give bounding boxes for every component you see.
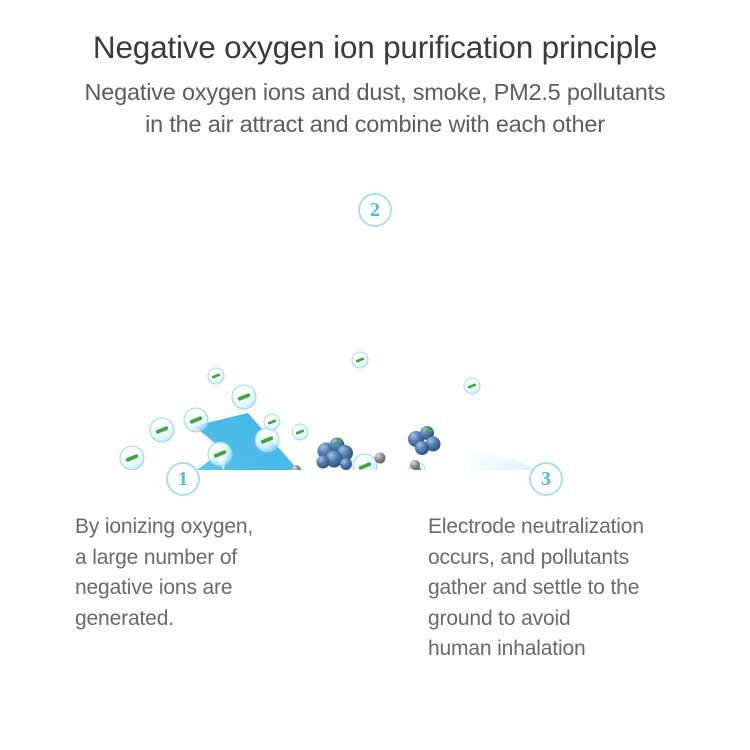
infographic-page: Negative oxygen ion purification princip… [0,0,750,750]
negative-ion-particle [208,368,224,384]
dust-particle-cluster-group [291,426,494,470]
step-1-line-3: negative ions are [75,573,355,604]
dust-particle-cluster [408,426,441,455]
negative-ion-particle [464,378,480,394]
step-3-line-1: Electrode neutralization [428,512,728,543]
dust-particle-cluster [317,438,354,471]
dust-speck [375,453,386,464]
negative-ion-particle [120,446,144,470]
dust-speck [410,460,420,470]
pollutant-settling-arrow [462,452,718,470]
step-3-line-3: gather and settle to the [428,573,728,604]
step-1-line-2: a large number of [75,543,355,574]
negative-ion-particle [292,424,308,440]
negative-ion-particle [353,454,377,470]
step-3-line-2: occurs, and pollutants [428,543,728,574]
negative-ion-particle [184,408,208,432]
step-1-line-4: generated. [75,604,355,635]
page-title: Negative oxygen ion purification princip… [0,26,750,68]
step-badge-2: 2 [358,193,392,227]
page-subtitle: Negative oxygen ions and dust, smoke, PM… [0,76,750,140]
header: Negative oxygen ion purification princip… [0,26,750,140]
step-3-description: Electrode neutralization occurs, and pol… [428,512,728,665]
step-1-line-1: By ionizing oxygen, [75,512,355,543]
negative-ion-particle [255,428,279,452]
negative-ion-particle [150,418,174,442]
negative-ion-particle [232,385,256,409]
step-1-description: By ionizing oxygen, a large number of ne… [75,512,355,634]
step-3-line-4: ground to avoid [428,604,728,635]
negative-ion-particle [264,414,280,430]
negative-ion-particle [352,352,368,368]
step-badge-3: 3 [529,462,563,496]
step-badge-1: 1 [166,462,200,496]
step-3-line-5: human inhalation [428,634,728,665]
subtitle-line-1: Negative oxygen ions and dust, smoke, PM… [0,76,750,108]
negative-ion-particle [208,442,232,466]
subtitle-line-2: in the air attract and combine with each… [0,108,750,140]
